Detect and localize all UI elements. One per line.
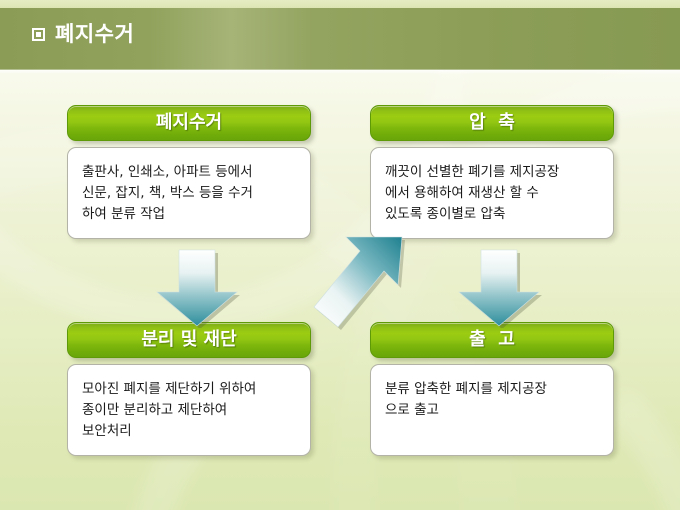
title-band: 폐지수거 bbox=[0, 8, 680, 70]
process-node-2-header[interactable]: 압 축 bbox=[370, 105, 614, 141]
process-node-4-header[interactable]: 출 고 bbox=[370, 322, 614, 358]
process-node-4-heading: 출 고 bbox=[469, 331, 515, 349]
process-node-2-body: 깨끗이 선별한 폐기를 제지공장 에서 용해하여 재생산 할 수 있도록 종이별… bbox=[370, 147, 614, 239]
process-node-2[interactable]: 압 축 깨끗이 선별한 폐기를 제지공장 에서 용해하여 재생산 할 수 있도록… bbox=[370, 105, 614, 239]
arrow-down-right-icon bbox=[452, 248, 546, 328]
arrow-down-left-icon bbox=[150, 248, 244, 328]
slide-canvas: 폐지수거 폐지수거 출판사, 인쇄소, 아파트 등에서 신문, 잡지, 책, 박… bbox=[0, 0, 680, 510]
process-node-1-body: 출판사, 인쇄소, 아파트 등에서 신문, 잡지, 책, 박스 등을 수거 하여… bbox=[67, 147, 311, 239]
process-node-2-heading: 압 축 bbox=[469, 114, 515, 132]
process-node-4-description: 분류 압축한 폐지를 제지공장 으로 출고 bbox=[385, 379, 601, 421]
process-node-1-header[interactable]: 폐지수거 bbox=[67, 105, 311, 141]
process-node-3-body: 모아진 폐지를 제단하기 위하여 종이만 분리하고 제단하여 보안처리 bbox=[67, 364, 311, 456]
square-bullet-icon bbox=[32, 28, 45, 41]
process-node-2-description: 깨끗이 선별한 폐기를 제지공장 에서 용해하여 재생산 할 수 있도록 종이별… bbox=[385, 162, 601, 225]
process-node-1-description: 출판사, 인쇄소, 아파트 등에서 신문, 잡지, 책, 박스 등을 수거 하여… bbox=[82, 162, 298, 225]
process-node-1[interactable]: 폐지수거 출판사, 인쇄소, 아파트 등에서 신문, 잡지, 책, 박스 등을 … bbox=[67, 105, 311, 239]
process-node-3-heading: 분리 및 재단 bbox=[141, 331, 236, 349]
process-node-3-header[interactable]: 분리 및 재단 bbox=[67, 322, 311, 358]
title-group: 폐지수거 bbox=[32, 24, 134, 45]
process-node-4[interactable]: 출 고 분류 압축한 폐지를 제지공장 으로 출고 bbox=[370, 322, 614, 456]
title-top-strip bbox=[0, 0, 680, 8]
process-node-3-description: 모아진 폐지를 제단하기 위하여 종이만 분리하고 제단하여 보안처리 bbox=[82, 379, 298, 442]
process-node-4-body: 분류 압축한 폐지를 제지공장 으로 출고 bbox=[370, 364, 614, 456]
process-node-1-heading: 폐지수거 bbox=[156, 114, 222, 132]
process-node-3[interactable]: 분리 및 재단 모아진 폐지를 제단하기 위하여 종이만 분리하고 제단하여 보… bbox=[67, 322, 311, 456]
page-title: 폐지수거 bbox=[55, 24, 134, 45]
